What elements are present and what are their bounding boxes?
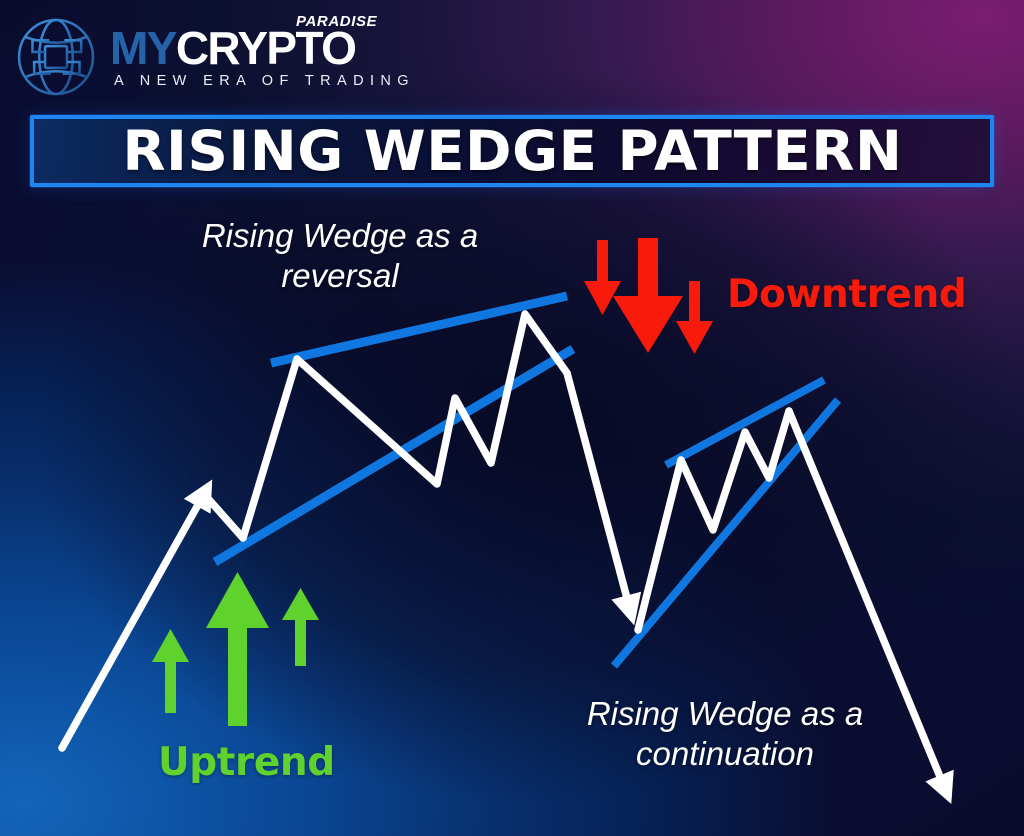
wedge-2-upper-trendline (666, 380, 824, 465)
uptrend-arrow-small-right (282, 588, 319, 666)
price-line-wedge-1 (297, 314, 567, 484)
annotation-downtrend: Downtrend (727, 272, 966, 317)
annotation-rising-wedge-continuation: Rising Wedge as a continuation (545, 694, 905, 775)
downtrend-arrow-small-right (676, 281, 713, 354)
price-line-uptrend-continue (204, 359, 297, 538)
price-line-breakdown-1 (567, 373, 632, 617)
uptrend-arrow-small-left (152, 629, 189, 713)
annotation-uptrend: Uptrend (158, 740, 335, 785)
downtrend-arrow-small-left (584, 240, 621, 315)
infographic-canvas: PARADISE MYCRYPTO A NEW ERA OF TRADING R… (0, 0, 1024, 836)
uptrend-arrow-large (206, 572, 269, 726)
downtrend-arrow-large (613, 238, 683, 353)
price-line-uptrend-leg (62, 487, 208, 748)
annotation-rising-wedge-reversal: Rising Wedge as a reversal (150, 216, 530, 297)
